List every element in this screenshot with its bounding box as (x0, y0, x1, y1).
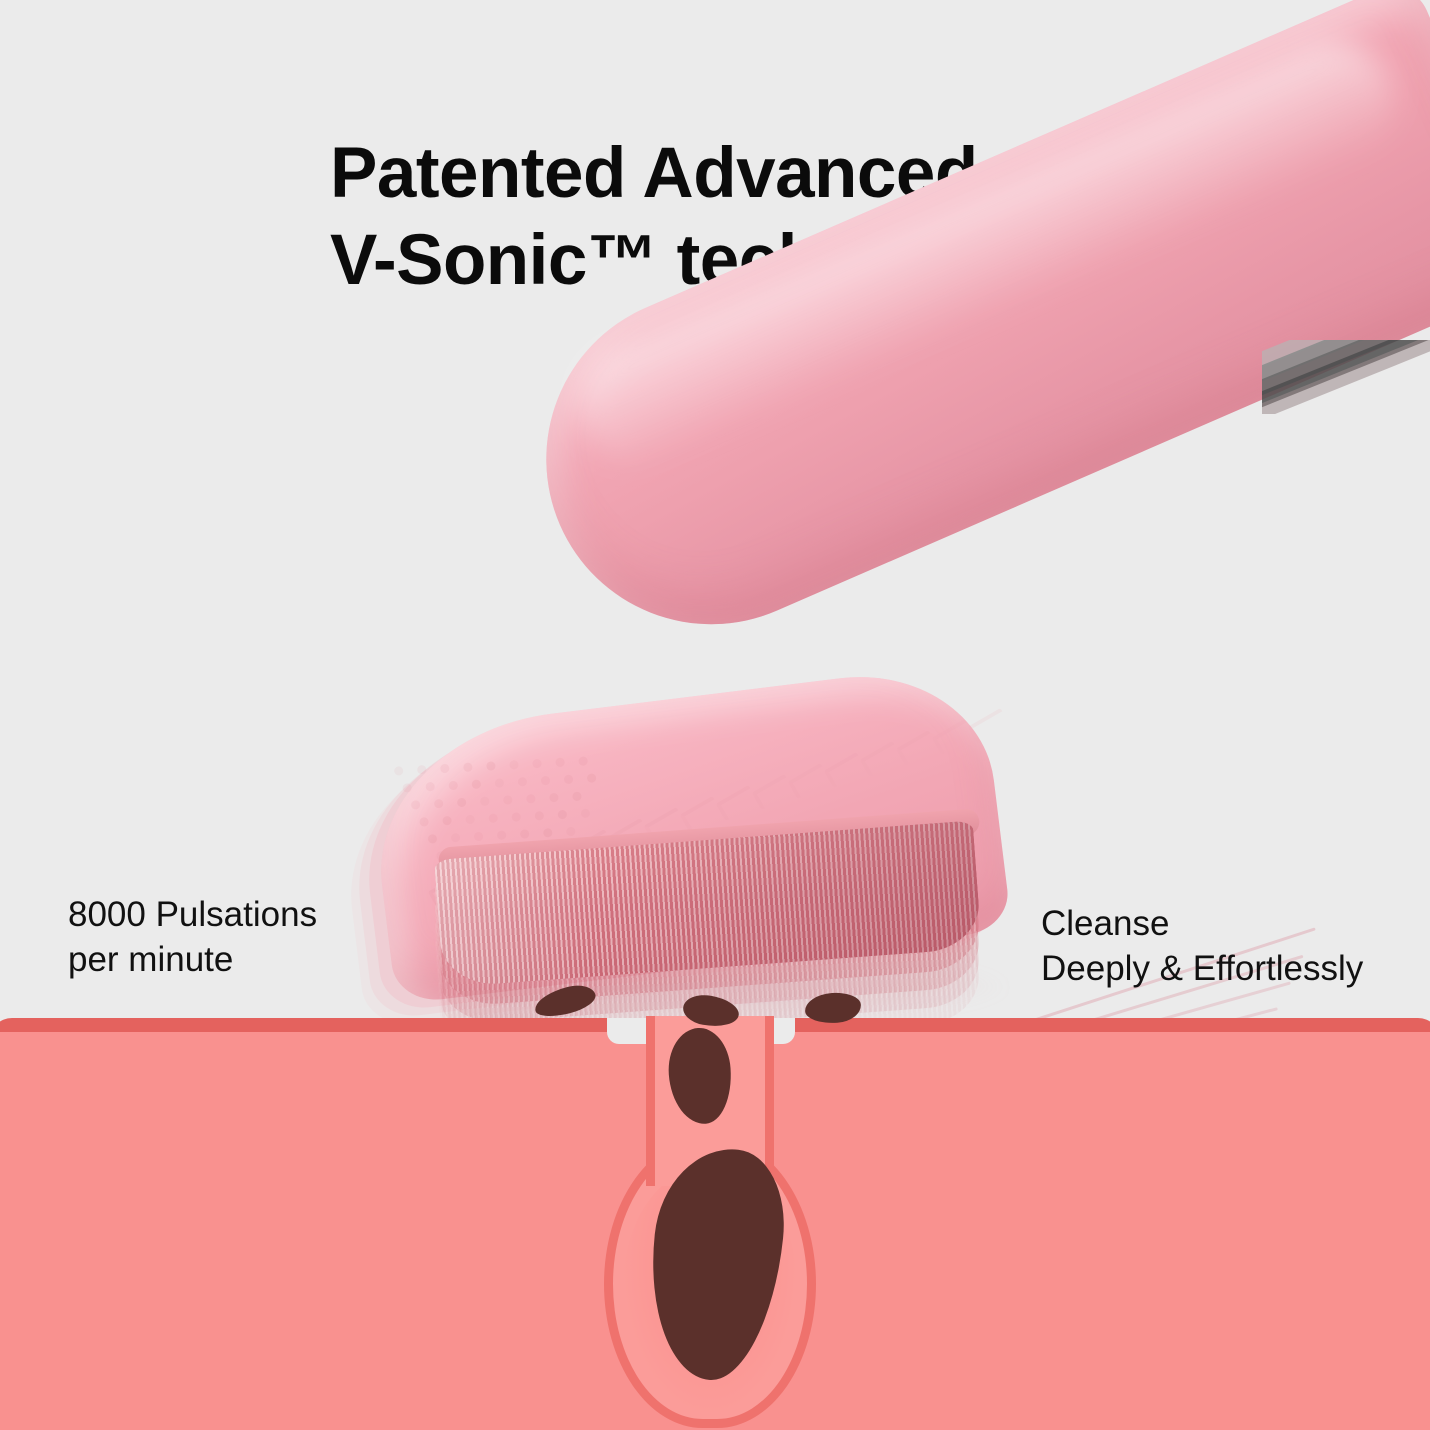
metal-band (1262, 340, 1430, 414)
device-handle (494, 0, 1430, 676)
product-feature-banner: Patented Advanced V-Sonic™ technology 80… (0, 0, 1430, 1430)
caption-cleanse: Cleanse Deeply & Effortlessly (1041, 902, 1363, 992)
caption-pulsations: 8000 Pulsations per minute (68, 893, 317, 983)
